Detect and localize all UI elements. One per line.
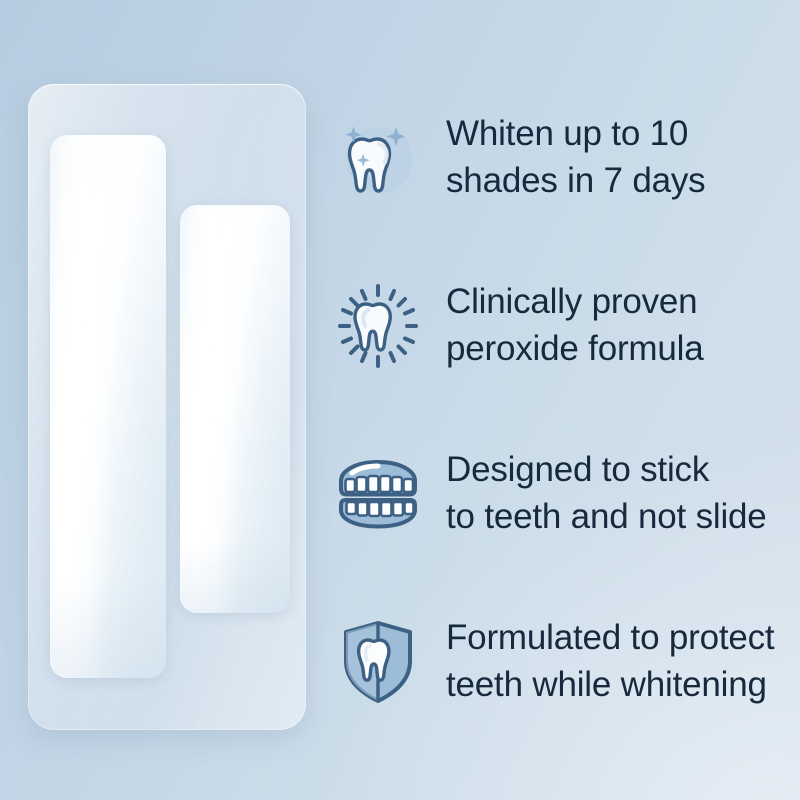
sparkling-tooth-icon xyxy=(332,112,424,204)
feature-text: Formulated to protect teeth while whiten… xyxy=(446,615,774,709)
whitening-strip-lower xyxy=(180,205,290,613)
whitening-strip-upper xyxy=(50,135,166,678)
product-image xyxy=(0,0,330,800)
feature-list: Whiten up to 10 shades in 7 days xyxy=(332,96,792,724)
feature-row-clinically-proven: Clinically proven peroxide formula xyxy=(332,264,792,388)
dentures-icon xyxy=(332,448,424,540)
product-feature-poster: Whiten up to 10 shades in 7 days xyxy=(0,0,800,800)
shining-tooth-icon xyxy=(332,280,424,372)
feature-text: Designed to stick to teeth and not slide xyxy=(446,447,767,541)
strip-gloss xyxy=(50,135,166,678)
feature-text: Clinically proven peroxide formula xyxy=(446,279,704,373)
strip-gloss xyxy=(180,205,290,613)
shield-tooth-icon xyxy=(332,616,424,708)
feature-row-whitening-shades: Whiten up to 10 shades in 7 days xyxy=(332,96,792,220)
feature-text: Whiten up to 10 shades in 7 days xyxy=(446,111,705,205)
feature-row-protect-teeth: Formulated to protect teeth while whiten… xyxy=(332,600,792,724)
feature-row-stick-to-teeth: Designed to stick to teeth and not slide xyxy=(332,432,792,556)
